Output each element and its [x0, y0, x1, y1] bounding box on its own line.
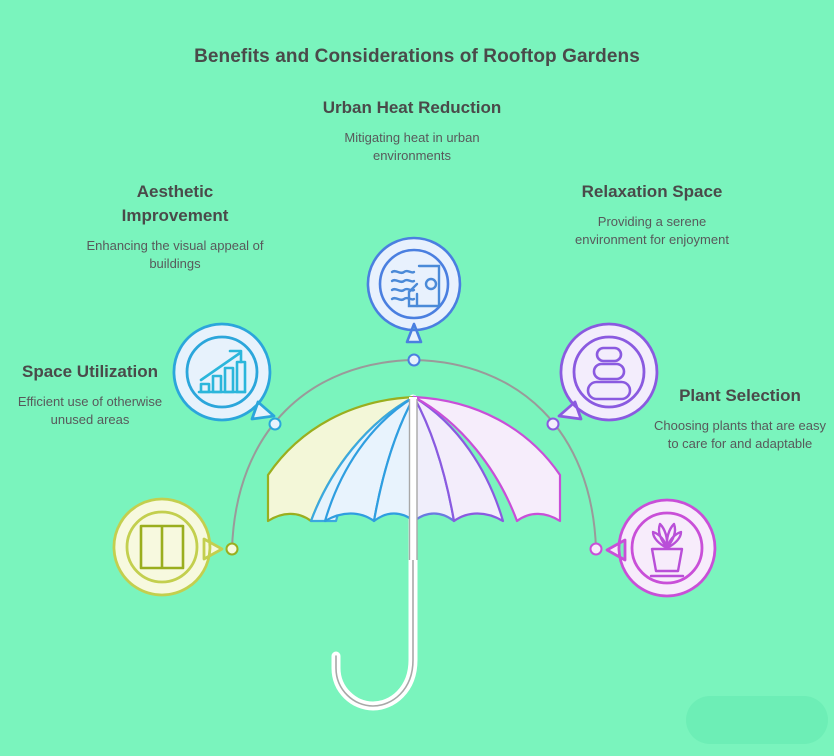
- arc-node-plant-selection: [591, 544, 602, 555]
- icon-badge-urban-heat-reduction[interactable]: [364, 234, 464, 346]
- infographic-canvas: Benefits and Considerations of Rooftop G…: [0, 0, 834, 756]
- label-space-utilization: Space Utilization Efficient use of other…: [5, 360, 175, 429]
- icon-badge-plant-selection[interactable]: [607, 496, 719, 604]
- label-description: Mitigating heat in urban environments: [322, 129, 502, 165]
- corner-watermark: [686, 696, 828, 744]
- icon-badge-space-utilization[interactable]: [110, 495, 222, 603]
- label-urban-heat-reduction: Urban Heat Reduction Mitigating heat in …: [322, 96, 502, 165]
- label-plant-selection: Plant Selection Choosing plants that are…: [650, 384, 830, 453]
- icon-badge-aesthetic-improvement[interactable]: [170, 320, 278, 428]
- label-description: Choosing plants that are easy to care fo…: [650, 417, 830, 453]
- umbrella-illustration: [268, 397, 560, 706]
- label-description: Providing a serene environment for enjoy…: [562, 213, 742, 249]
- icon-badge-relaxation-space[interactable]: [553, 320, 661, 428]
- label-aesthetic-improvement: Aesthetic Improvement Enhancing the visu…: [85, 180, 265, 273]
- label-title: Aesthetic Improvement: [85, 180, 265, 228]
- label-title: Space Utilization: [5, 360, 175, 384]
- label-relaxation-space: Relaxation Space Providing a serene envi…: [562, 180, 742, 249]
- label-title: Relaxation Space: [562, 180, 742, 204]
- label-description: Enhancing the visual appeal of buildings: [85, 237, 265, 273]
- arc-node-space-utilization: [227, 544, 238, 555]
- arc-node-urban-heat-reduction: [409, 355, 420, 366]
- label-description: Efficient use of otherwise unused areas: [5, 393, 175, 429]
- label-title: Urban Heat Reduction: [322, 96, 502, 120]
- label-title: Plant Selection: [650, 384, 830, 408]
